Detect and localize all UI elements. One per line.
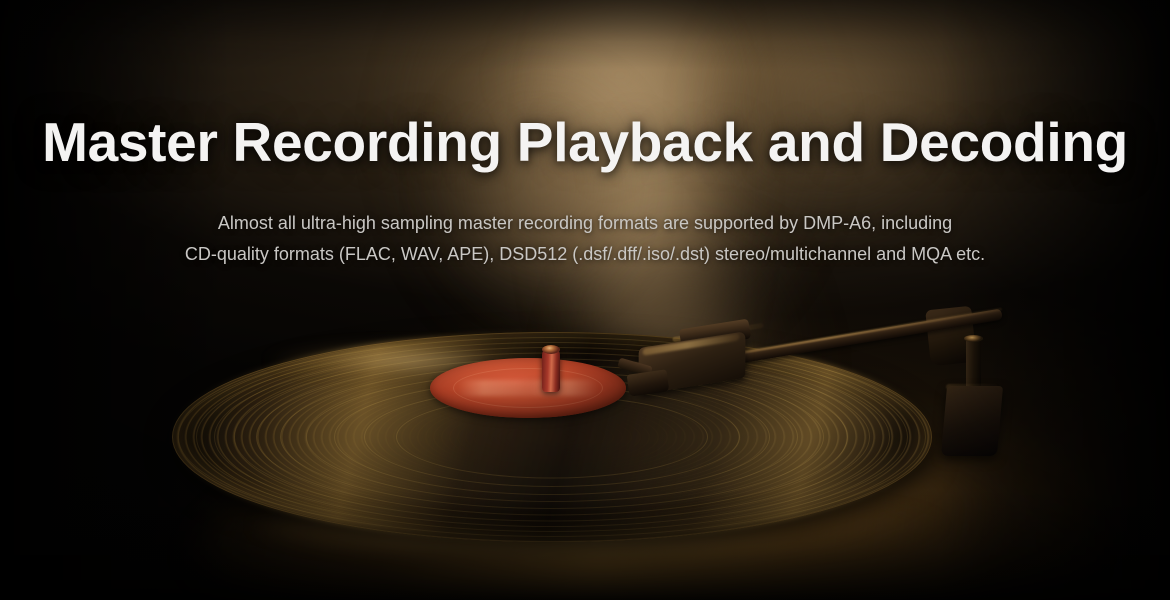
banner-subtitle: Almost all ultra-high sampling master re… [0,208,1170,270]
page-title: Master Recording Playback and Decoding [0,113,1170,172]
record-label-shading [430,358,626,418]
spindle-post [542,348,560,392]
record-label [430,358,626,418]
spindle-cap [542,345,560,354]
tonearm-rest [944,338,1004,462]
turntable-scene-image [0,0,1170,600]
subtitle-line-2: CD-quality formats (FLAC, WAV, APE), DSD… [0,239,1170,270]
tonearm-rest-base [941,386,1003,456]
turntable-deck [0,0,1170,600]
subtitle-line-1: Almost all ultra-high sampling master re… [0,208,1170,239]
phono-cartridge [627,369,670,396]
tonearm-rest-tip [964,335,983,342]
product-feature-banner: Master Recording Playback and Decoding A… [0,0,1170,600]
